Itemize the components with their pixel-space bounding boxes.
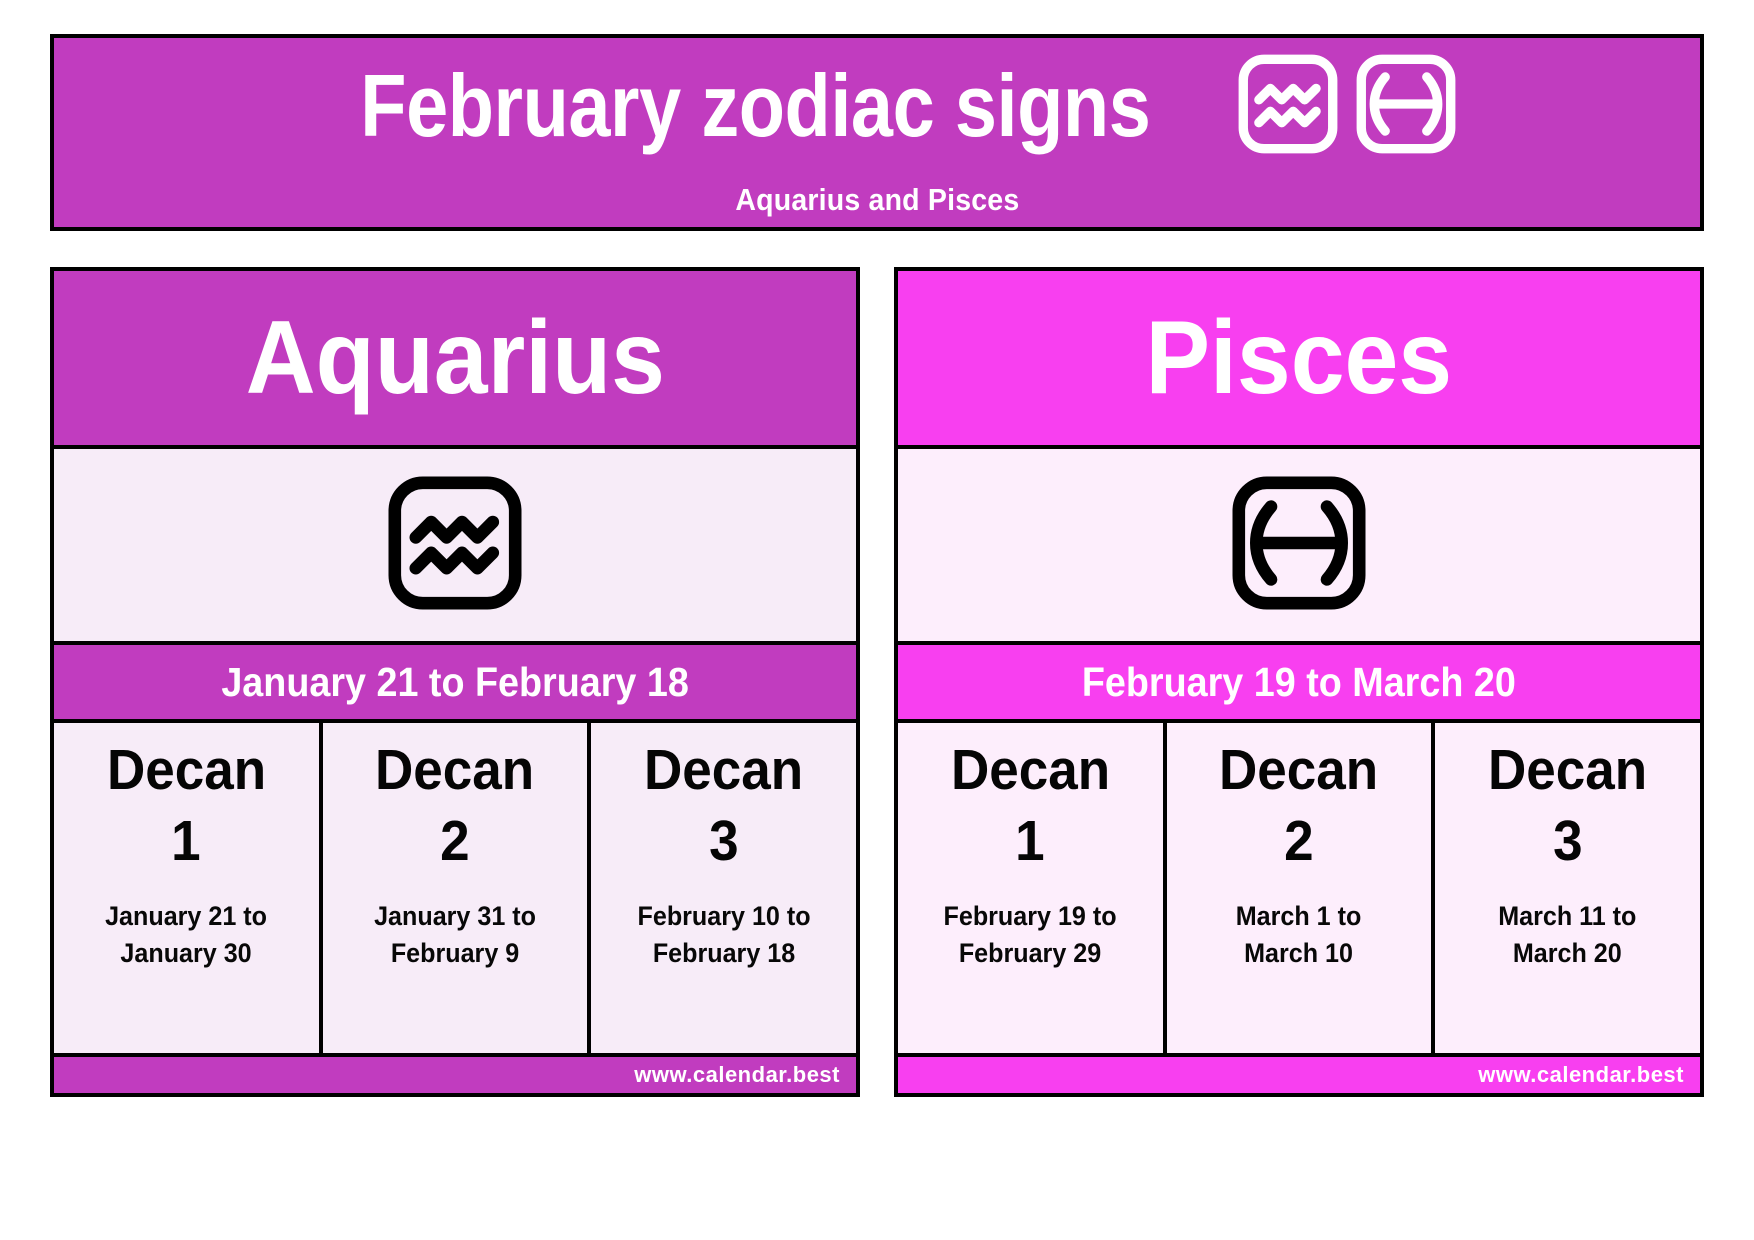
aquarius-icon bbox=[1236, 52, 1340, 161]
decan-column: Decan 1 January 21 to January 30 bbox=[54, 723, 319, 1053]
decan-label: Decan bbox=[1219, 741, 1378, 801]
decan-number: 1 bbox=[172, 809, 201, 875]
zodiac-infographic: February zodiac signs bbox=[0, 0, 1754, 1240]
decan-number: 2 bbox=[1284, 809, 1313, 875]
panel-pisces-symbol-cell bbox=[898, 449, 1700, 645]
decan-column: Decan 3 March 11 to March 20 bbox=[1431, 723, 1700, 1053]
decan-range: March 11 to March 20 bbox=[1499, 898, 1637, 971]
decan-label: Decan bbox=[375, 741, 534, 801]
panel-pisces-footer: www.calendar.best bbox=[898, 1053, 1700, 1093]
panel-pisces-date-band: February 19 to March 20 bbox=[898, 645, 1700, 723]
header-banner: February zodiac signs bbox=[50, 34, 1704, 231]
panel-aquarius-footer: www.calendar.best bbox=[54, 1053, 856, 1093]
panel-aquarius-date-range: January 21 to February 18 bbox=[221, 659, 689, 706]
decan-column: Decan 2 January 31 to February 9 bbox=[319, 723, 588, 1053]
panel-aquarius-symbol-cell bbox=[54, 449, 856, 645]
decan-number: 3 bbox=[1553, 809, 1582, 875]
decan-column: Decan 1 February 19 to February 29 bbox=[898, 723, 1163, 1053]
decan-label: Decan bbox=[107, 741, 266, 801]
decan-column: Decan 2 March 1 to March 10 bbox=[1163, 723, 1432, 1053]
decan-range: February 19 to February 29 bbox=[944, 898, 1117, 971]
panel-aquarius: Aquarius January 21 to February 18 Decan… bbox=[50, 267, 860, 1097]
decan-range: March 1 to March 10 bbox=[1236, 898, 1362, 971]
panel-pisces-header: Pisces bbox=[898, 271, 1700, 449]
panel-pisces: Pisces February 19 to March 20 Decan bbox=[894, 267, 1704, 1097]
decan-range: January 31 to February 9 bbox=[374, 898, 536, 971]
watermark-url: www.calendar.best bbox=[634, 1062, 840, 1088]
decan-range: February 10 to February 18 bbox=[637, 898, 810, 971]
decan-column: Decan 3 February 10 to February 18 bbox=[587, 723, 856, 1053]
decan-label: Decan bbox=[1488, 741, 1647, 801]
panel-pisces-decans: Decan 1 February 19 to February 29 Decan… bbox=[898, 723, 1700, 1053]
decan-range: January 21 to January 30 bbox=[105, 898, 267, 971]
panel-aquarius-date-band: January 21 to February 18 bbox=[54, 645, 856, 723]
aquarius-icon bbox=[385, 473, 525, 618]
panel-pisces-title: Pisces bbox=[1146, 306, 1453, 410]
pisces-icon bbox=[1354, 52, 1458, 161]
page-title: February zodiac signs bbox=[360, 62, 1150, 150]
panel-pisces-date-range: February 19 to March 20 bbox=[1082, 659, 1516, 706]
header-subtitle: Aquarius and Pisces bbox=[735, 182, 1019, 218]
decan-label: Decan bbox=[951, 741, 1110, 801]
panel-aquarius-title: Aquarius bbox=[245, 306, 664, 410]
decan-label: Decan bbox=[644, 741, 803, 801]
decan-number: 1 bbox=[1016, 809, 1045, 875]
sign-panels: Aquarius January 21 to February 18 Decan… bbox=[50, 267, 1704, 1097]
watermark-url: www.calendar.best bbox=[1478, 1062, 1684, 1088]
decan-number: 3 bbox=[709, 809, 738, 875]
pisces-icon bbox=[1229, 473, 1369, 618]
panel-aquarius-decans: Decan 1 January 21 to January 30 Decan 2… bbox=[54, 723, 856, 1053]
header-title-row: February zodiac signs bbox=[296, 46, 1459, 166]
decan-number: 2 bbox=[440, 809, 469, 875]
panel-aquarius-header: Aquarius bbox=[54, 271, 856, 449]
header-icon-group bbox=[1236, 52, 1458, 161]
